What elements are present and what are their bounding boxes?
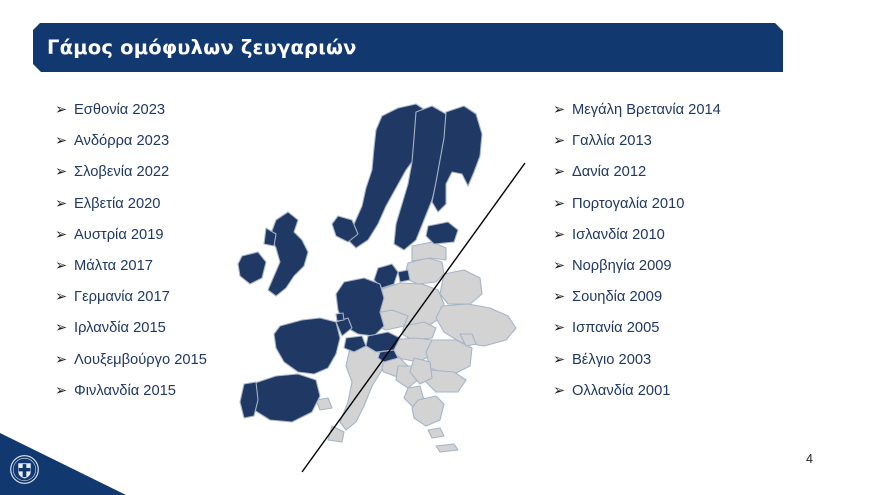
list-item: ➢ Μεγάλη Βρετανία 2014: [553, 103, 833, 134]
list-item: ➢ Ολλανδία 2001: [553, 384, 833, 415]
list-item-label: Λουξεμβούργο 2015: [74, 353, 207, 368]
list-item: ➢ Ισπανία 2005: [553, 321, 833, 352]
list-item-label: Νορβηγία 2009: [572, 259, 672, 274]
list-item: ➢ Πορτογαλία 2010: [553, 197, 833, 228]
list-item-label: Ανδόρρα 2023: [74, 134, 169, 149]
list-item-label: Μεγάλη Βρετανία 2014: [572, 103, 721, 118]
slide-title-banner: Γάμος ομόφυλων ζευγαριών: [33, 23, 783, 72]
arrow-bullet-icon: ➢: [55, 134, 74, 149]
arrow-bullet-icon: ➢: [55, 321, 74, 336]
list-item-label: Φινλανδία 2015: [74, 384, 176, 399]
arrow-bullet-icon: ➢: [55, 384, 74, 399]
page-number: 4: [806, 452, 813, 466]
list-item: ➢ Γαλλία 2013: [553, 134, 833, 165]
list-item: ➢ Νορβηγία 2009: [553, 259, 833, 290]
europe-map-svg: [232, 100, 562, 485]
europe-map: [232, 100, 562, 485]
list-item: ➢ Βέλγιο 2003: [553, 353, 833, 384]
list-item: ➢ Ισλανδία 2010: [553, 228, 833, 259]
list-item-label: Ιρλανδία 2015: [74, 321, 166, 336]
arrow-bullet-icon: ➢: [55, 353, 74, 368]
list-item-label: Ισλανδία 2010: [572, 228, 665, 243]
list-item: ➢ Δανία 2012: [553, 165, 833, 196]
arrow-bullet-icon: ➢: [55, 259, 74, 274]
slide-canvas: Γάμος ομόφυλων ζευγαριών ➢ Εσθονία 2023 …: [0, 0, 880, 495]
arrow-bullet-icon: ➢: [55, 197, 74, 212]
list-item-label: Βέλγιο 2003: [572, 353, 651, 368]
arrow-bullet-icon: ➢: [55, 103, 74, 118]
arrow-bullet-icon: ➢: [55, 228, 74, 243]
list-item-label: Πορτογαλία 2010: [572, 197, 684, 212]
list-item-label: Εσθονία 2023: [74, 103, 165, 118]
list-item-label: Ελβετία 2020: [74, 197, 160, 212]
right-country-list: ➢ Μεγάλη Βρετανία 2014 ➢ Γαλλία 2013 ➢ Δ…: [553, 103, 833, 415]
list-item-label: Γερμανία 2017: [74, 290, 170, 305]
arrow-bullet-icon: ➢: [55, 290, 74, 305]
list-item-label: Ολλανδία 2001: [572, 384, 670, 399]
list-item-label: Σουηδία 2009: [572, 290, 662, 305]
list-item-label: Αυστρία 2019: [74, 228, 164, 243]
list-item-label: Δανία 2012: [572, 165, 646, 180]
list-item: ➢ Σουηδία 2009: [553, 290, 833, 321]
list-item-label: Ισπανία 2005: [572, 321, 659, 336]
page-title: Γάμος ομόφυλων ζευγαριών: [33, 36, 357, 59]
list-item-label: Γαλλία 2013: [572, 134, 652, 149]
list-item-label: Σλοβενία 2022: [74, 165, 169, 180]
arrow-bullet-icon: ➢: [55, 165, 74, 180]
greek-government-emblem-icon: [10, 455, 39, 484]
list-item-label: Μάλτα 2017: [74, 259, 153, 274]
